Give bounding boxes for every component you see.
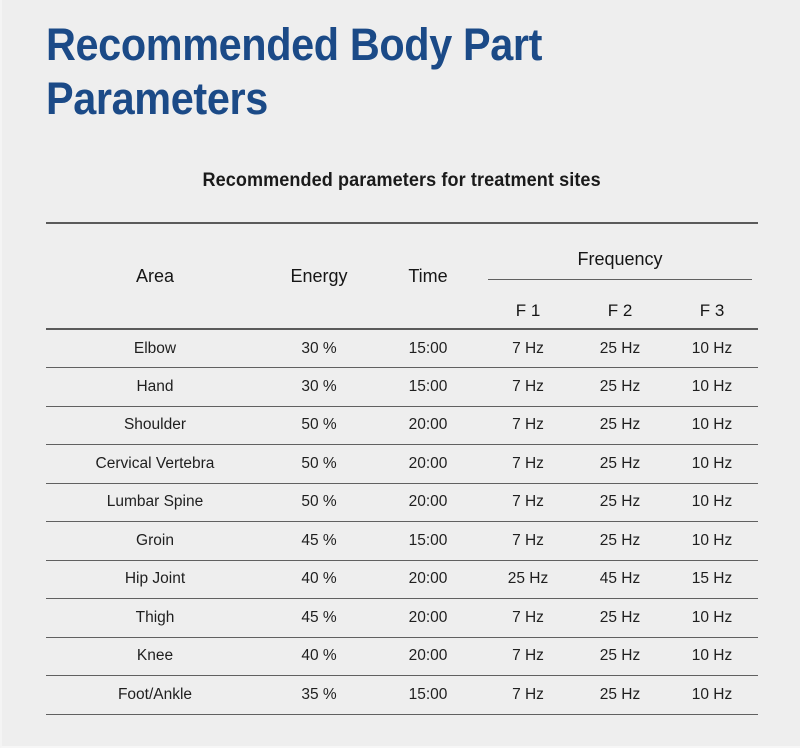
page-title: Recommended Body Part Parameters [46,18,690,126]
cell-f1: 7 Hz [482,522,574,561]
cell-f2: 25 Hz [574,368,666,407]
cell-time: 15:00 [374,368,482,407]
cell-area: Foot/Ankle [46,676,264,715]
cell-f2: 25 Hz [574,406,666,445]
cell-f3: 10 Hz [666,637,758,676]
table-row: Hip Joint40 %20:0025 Hz45 Hz15 Hz [46,560,758,599]
cell-area: Groin [46,522,264,561]
cell-f3: 15 Hz [666,560,758,599]
parameters-table: Area Energy Time Frequency F 1 F 2 F 3 E… [46,222,758,715]
cell-f2: 25 Hz [574,599,666,638]
cell-f2: 25 Hz [574,445,666,484]
cell-f1: 7 Hz [482,406,574,445]
cell-f2: 25 Hz [574,483,666,522]
cell-area: Lumbar Spine [46,483,264,522]
cell-area: Cervical Vertebra [46,445,264,484]
title-block: Recommended Body Part Parameters [46,18,746,126]
cell-area: Hip Joint [46,560,264,599]
cell-energy: 50 % [264,406,374,445]
cell-f2: 25 Hz [574,522,666,561]
column-header-f1: F 1 [482,293,574,329]
cell-f1: 7 Hz [482,676,574,715]
cell-time: 20:00 [374,445,482,484]
page-subtitle: Recommended parameters for treatment sit… [2,170,800,192]
cell-f2: 25 Hz [574,329,666,368]
page-root: Recommended Body Part Parameters Recomme… [0,0,800,748]
cell-time: 20:00 [374,483,482,522]
cell-time: 15:00 [374,329,482,368]
cell-f3: 10 Hz [666,329,758,368]
cell-f1: 7 Hz [482,445,574,484]
cell-energy: 30 % [264,329,374,368]
cell-energy: 30 % [264,368,374,407]
cell-f1: 7 Hz [482,599,574,638]
cell-energy: 40 % [264,560,374,599]
cell-energy: 35 % [264,676,374,715]
page-subtitle-text: Recommended parameters for treatment sit… [203,170,601,192]
table-row: Cervical Vertebra50 %20:007 Hz25 Hz10 Hz [46,445,758,484]
cell-f2: 25 Hz [574,637,666,676]
table-row: Thigh45 %20:007 Hz25 Hz10 Hz [46,599,758,638]
table-row: Elbow30 %15:007 Hz25 Hz10 Hz [46,329,758,368]
cell-f2: 25 Hz [574,676,666,715]
table-head: Area Energy Time Frequency F 1 F 2 F 3 [46,223,758,329]
cell-time: 20:00 [374,406,482,445]
cell-time: 15:00 [374,676,482,715]
cell-f3: 10 Hz [666,599,758,638]
cell-f1: 7 Hz [482,368,574,407]
table-body: Elbow30 %15:007 Hz25 Hz10 HzHand30 %15:0… [46,329,758,714]
cell-f3: 10 Hz [666,406,758,445]
column-header-f2: F 2 [574,293,666,329]
cell-f3: 10 Hz [666,522,758,561]
cell-f3: 10 Hz [666,445,758,484]
cell-f2: 45 Hz [574,560,666,599]
table-header-row-main: Area Energy Time Frequency [46,223,758,293]
cell-time: 20:00 [374,637,482,676]
cell-time: 20:00 [374,560,482,599]
cell-time: 15:00 [374,522,482,561]
table-row: Groin45 %15:007 Hz25 Hz10 Hz [46,522,758,561]
cell-energy: 50 % [264,445,374,484]
frequency-group-label: Frequency [482,249,758,279]
cell-f1: 25 Hz [482,560,574,599]
table-row: Lumbar Spine50 %20:007 Hz25 Hz10 Hz [46,483,758,522]
column-header-f3: F 3 [666,293,758,329]
cell-f1: 7 Hz [482,329,574,368]
cell-energy: 45 % [264,522,374,561]
cell-f1: 7 Hz [482,637,574,676]
cell-energy: 40 % [264,637,374,676]
column-header-time: Time [374,223,482,329]
column-header-frequency-group: Frequency [482,223,758,293]
cell-area: Knee [46,637,264,676]
column-header-energy: Energy [264,223,374,329]
cell-area: Elbow [46,329,264,368]
cell-f3: 10 Hz [666,368,758,407]
cell-f3: 10 Hz [666,483,758,522]
cell-energy: 50 % [264,483,374,522]
cell-area: Hand [46,368,264,407]
cell-f1: 7 Hz [482,483,574,522]
table-row: Knee40 %20:007 Hz25 Hz10 Hz [46,637,758,676]
table-row: Foot/Ankle35 %15:007 Hz25 Hz10 Hz [46,676,758,715]
table-row: Shoulder50 %20:007 Hz25 Hz10 Hz [46,406,758,445]
frequency-group-rule [488,279,752,280]
cell-energy: 45 % [264,599,374,638]
column-header-area: Area [46,223,264,329]
cell-time: 20:00 [374,599,482,638]
cell-f3: 10 Hz [666,676,758,715]
cell-area: Shoulder [46,406,264,445]
table-row: Hand30 %15:007 Hz25 Hz10 Hz [46,368,758,407]
cell-area: Thigh [46,599,264,638]
